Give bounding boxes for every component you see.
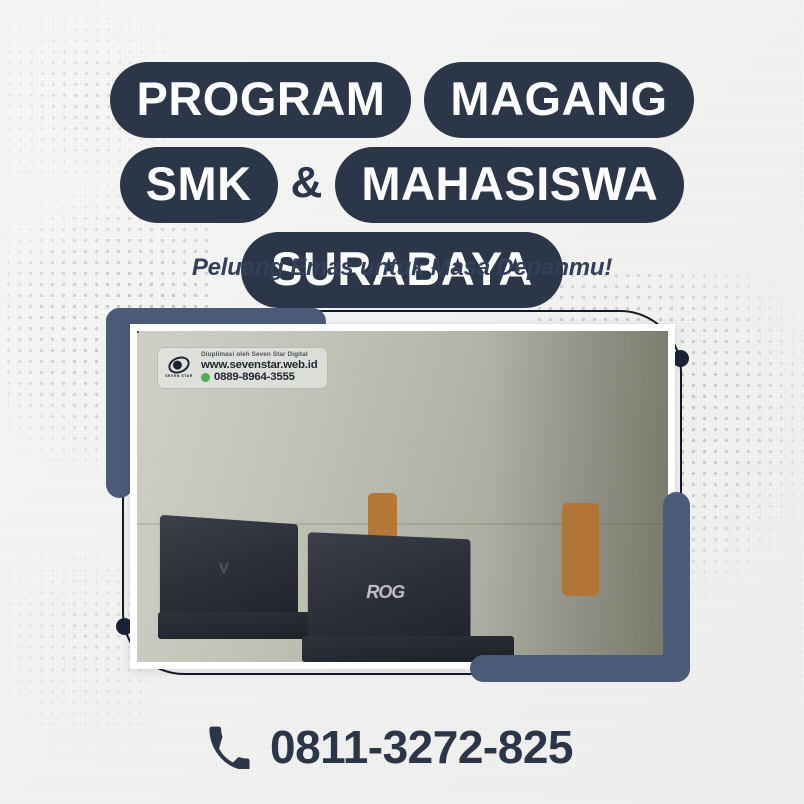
headline-ampersand: & [291, 161, 323, 209]
laptop-right-rog-logo: ROG [366, 582, 404, 603]
contact-phone-number: 0811-3272-825 [270, 720, 573, 774]
headline-row-1: PROGRAM MAGANG [0, 62, 804, 138]
seven-star-logo-text: SEVEN STAR [165, 374, 193, 378]
headline-pill-smk: SMK [120, 147, 278, 223]
watermark-website: www.sevenstar.web.id [201, 359, 318, 371]
seven-star-logo-icon: SEVEN STAR [164, 354, 194, 382]
headline-row-2: SMK & MAHASISWA [0, 147, 804, 223]
photo-frame-group: V ROG SEVEN STAR Diuplimasi oleh Seven S… [98, 300, 698, 690]
photo-wall-shadow [487, 331, 668, 662]
watermark-badge: SEVEN STAR Diuplimasi oleh Seven Star Di… [157, 347, 328, 389]
internship-photo: V ROG SEVEN STAR Diuplimasi oleh Seven S… [137, 331, 668, 662]
watermark-whatsapp-number: 0889-8964-3555 [214, 371, 295, 383]
corner-bracket-bottom-right-horizontal [470, 655, 690, 682]
laptop-left-lid: V [159, 514, 297, 624]
poster-canvas: PROGRAM MAGANG SMK & MAHASISWA SURABAYA … [0, 0, 804, 804]
headline-pill-magang: MAGANG [424, 62, 693, 138]
watermark-text-lines: Diuplimasi oleh Seven Star Digital www.s… [201, 352, 318, 384]
corner-bracket-bottom-right-vertical [663, 492, 690, 682]
phone-handset-icon [207, 725, 251, 769]
watermark-credit-line: Diuplimasi oleh Seven Star Digital [201, 352, 318, 359]
contact-bar: 0811-3272-825 [0, 720, 804, 774]
photo-chair-right [562, 503, 599, 596]
headline-pill-mahasiswa: MAHASISWA [335, 147, 684, 223]
photo-card: V ROG SEVEN STAR Diuplimasi oleh Seven S… [130, 324, 675, 669]
corner-bracket-top-left-vertical [106, 308, 133, 498]
laptop-right-lid: ROG [308, 532, 470, 649]
subtitle-tagline: Peluang Emas untuk Masa Depanmu! [0, 254, 804, 282]
watermark-whatsapp-row: 0889-8964-3555 [201, 371, 318, 383]
laptop-left-logo: V [218, 559, 228, 576]
student-right-glasses-right-lens [137, 331, 139, 333]
whatsapp-icon [201, 373, 210, 382]
headline-pill-program: PROGRAM [110, 62, 411, 138]
